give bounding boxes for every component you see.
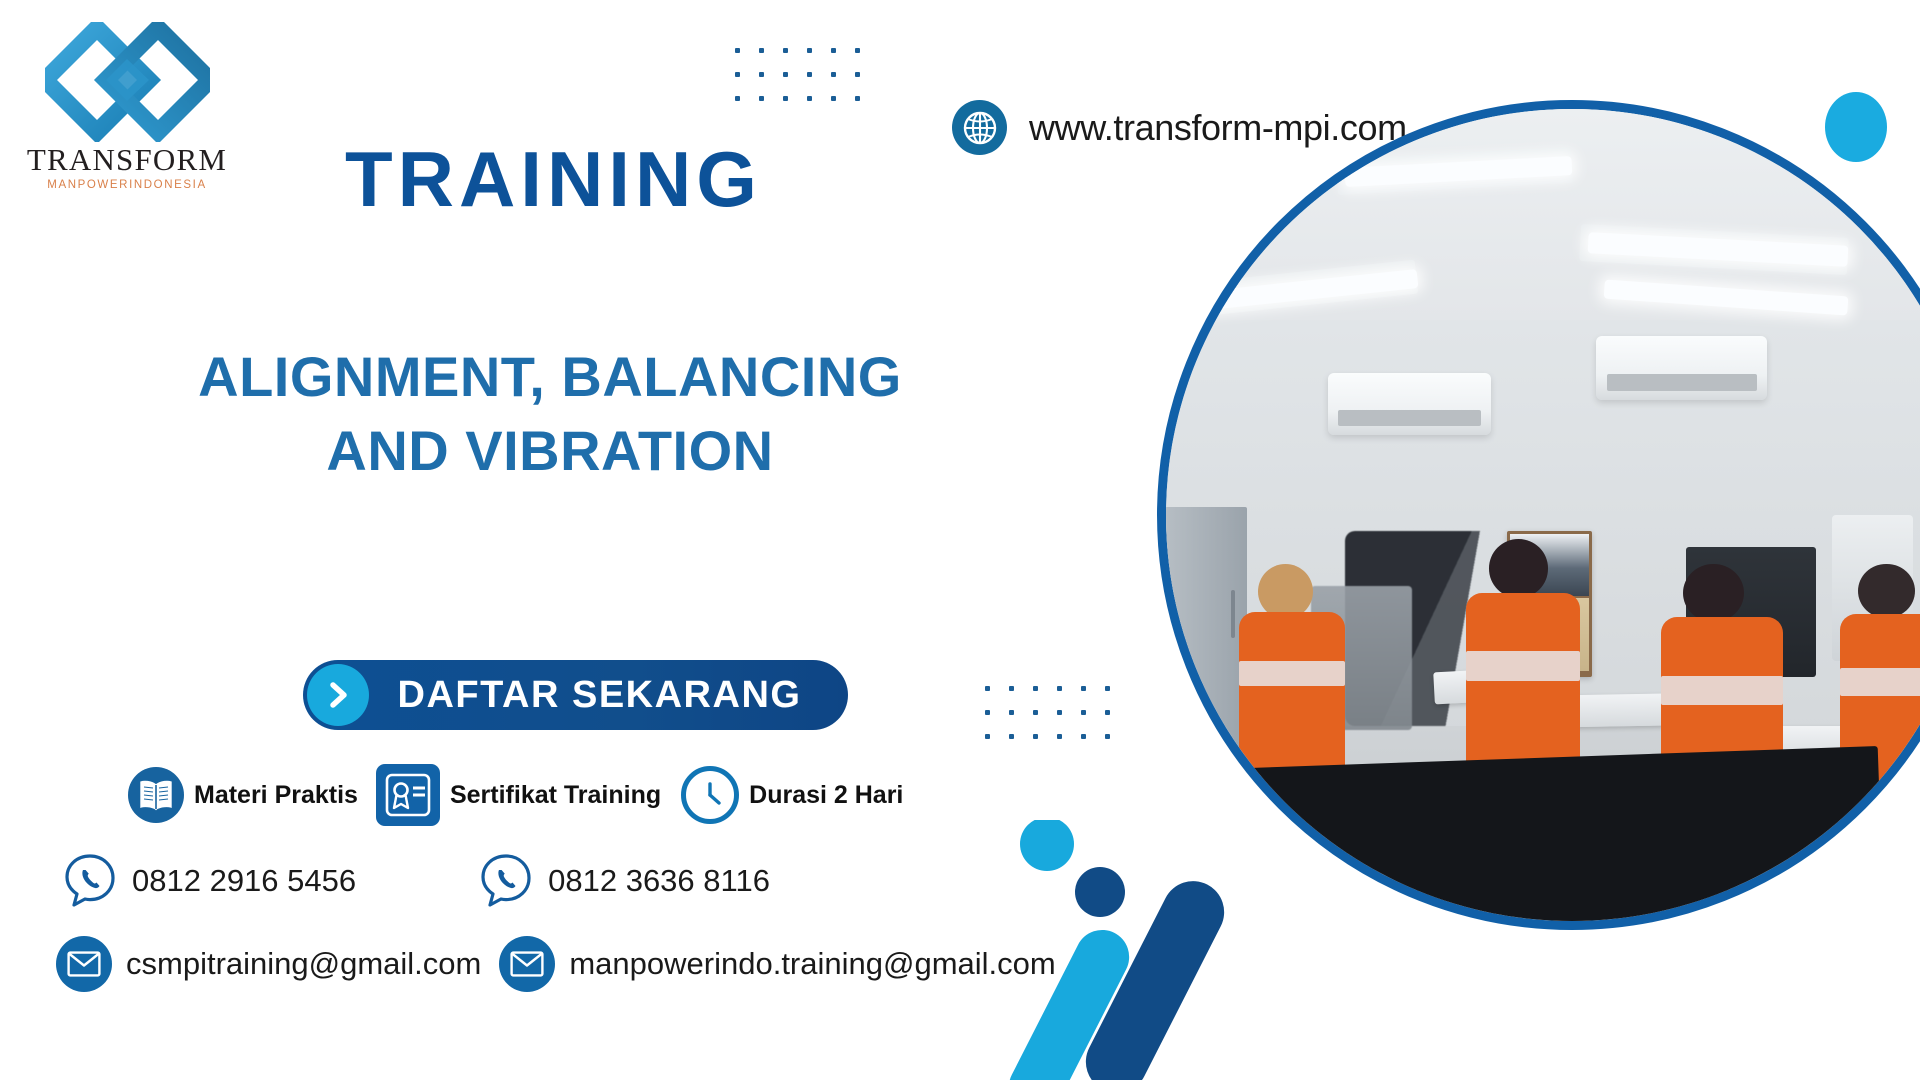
page-title-line-1: ALIGNMENT, BALANCING: [100, 340, 1000, 414]
training-photo-scene: [1166, 109, 1920, 921]
email-item-2[interactable]: manpowerindo.training@gmail.com: [499, 936, 1055, 992]
page-title: ALIGNMENT, BALANCING AND VIBRATION: [100, 340, 1000, 488]
abstract-people-decoration: [1000, 820, 1280, 1080]
feature-label-durasi: Durasi 2 Hari: [749, 781, 903, 810]
email-address-1[interactable]: csmpitraining@gmail.com: [126, 946, 481, 982]
email-address-2[interactable]: manpowerindo.training@gmail.com: [569, 946, 1055, 982]
decorative-dot-grid-middle: [985, 686, 1110, 739]
feature-label-materi-praktis: Materi Praktis: [194, 781, 358, 810]
feature-label-sertifikat-training: Sertifikat Training: [450, 781, 661, 810]
globe-icon: [952, 100, 1007, 155]
phone-item-1[interactable]: 0812 2916 5456: [62, 852, 356, 910]
phone-contacts: 0812 2916 5456 0812 3636 8116: [62, 852, 770, 910]
interlocking-diamonds-logo-icon: [45, 22, 210, 142]
whatsapp-icon: [478, 852, 534, 910]
feature-item-materi-praktis: Materi Praktis: [128, 767, 358, 823]
chevron-right-icon: [307, 664, 369, 726]
open-book-icon: [128, 767, 184, 823]
phone-item-2[interactable]: 0812 3636 8116: [478, 852, 770, 910]
brand-logo: TRANSFORM MANPOWERINDONESIA: [22, 22, 232, 191]
whatsapp-icon: [62, 852, 118, 910]
envelope-icon: [56, 936, 112, 992]
register-now-button[interactable]: DAFTAR SEKARANG: [303, 660, 848, 730]
page-kicker: TRAINING: [345, 140, 762, 218]
envelope-icon: [499, 936, 555, 992]
clock-icon: [681, 766, 739, 824]
page-title-line-2: AND VIBRATION: [100, 414, 1000, 488]
training-poster: TRANSFORM MANPOWERINDONESIA www.transfor…: [0, 0, 1920, 1080]
accent-circle-top-right: [1825, 92, 1887, 162]
email-item-1[interactable]: csmpitraining@gmail.com: [56, 936, 481, 992]
register-now-label: DAFTAR SEKARANG: [369, 674, 848, 717]
phone-number-1[interactable]: 0812 2916 5456: [132, 863, 356, 899]
feature-badges: Materi Praktis Sertifikat Training: [128, 764, 903, 826]
training-photo: [1157, 100, 1920, 930]
feature-item-sertifikat-training: Sertifikat Training: [358, 764, 661, 826]
feature-item-durasi: Durasi 2 Hari: [661, 766, 903, 824]
logo-wordmark: TRANSFORM: [22, 144, 232, 175]
decorative-dot-grid-top: [735, 48, 860, 101]
certificate-icon: [376, 764, 440, 826]
phone-number-2[interactable]: 0812 3636 8116: [548, 863, 770, 899]
logo-tagline: MANPOWERINDONESIA: [22, 179, 232, 191]
email-contacts: csmpitraining@gmail.com manpowerindo.tra…: [56, 936, 1056, 992]
